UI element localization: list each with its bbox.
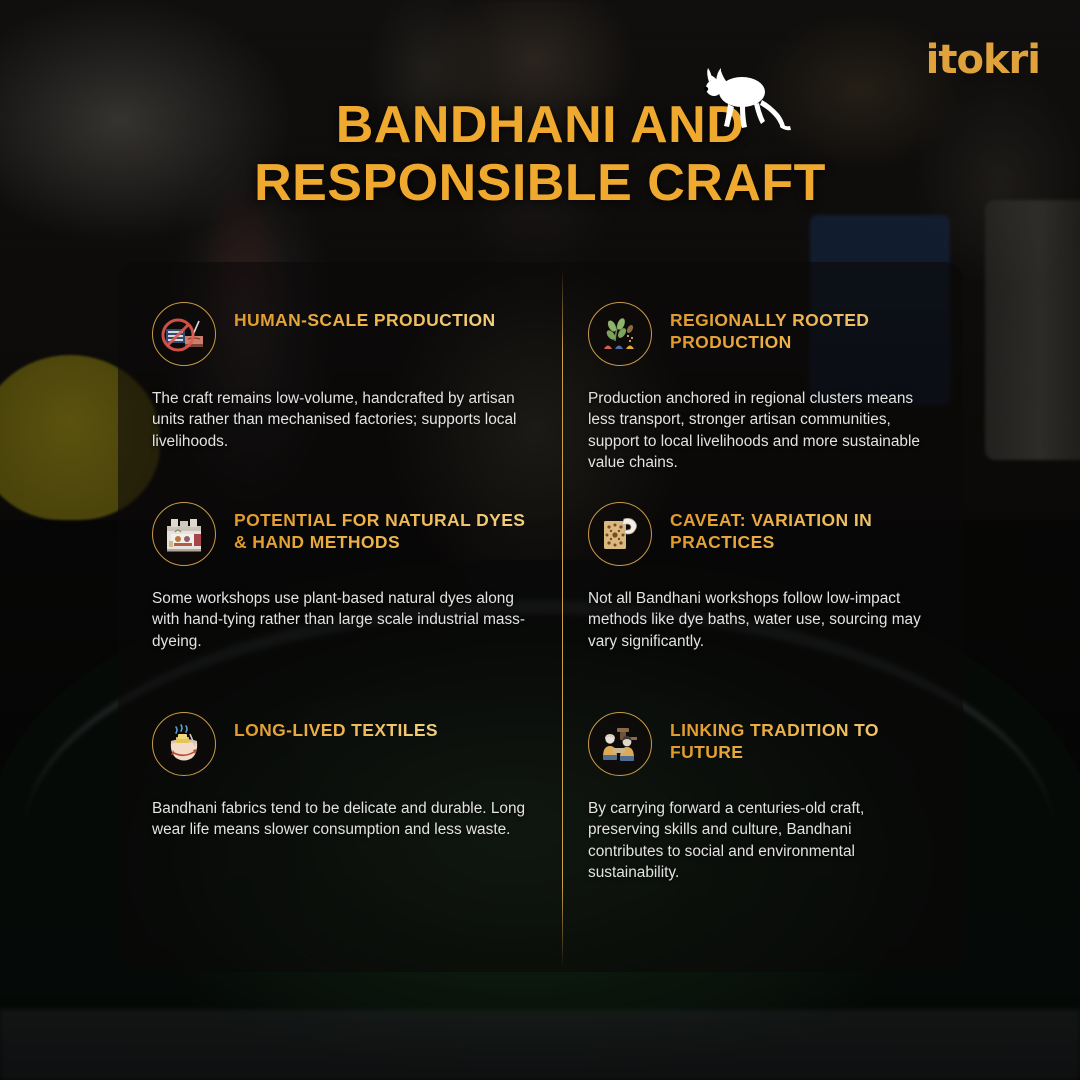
card-title: CAVEAT: VARIATION IN PRACTICES [670,502,929,553]
two-artisans-icon [588,712,652,776]
card-header: LINKING TRADITION TO FUTURE [588,712,929,776]
no-factory-icon [152,302,216,366]
card-header: POTENTIAL FOR NATURAL DYES & HAND METHOD… [152,502,528,566]
antelope-mark-icon [690,58,800,143]
plant-and-dye-powders-icon [588,302,652,366]
card-title: LONG-LIVED TEXTILES [234,712,438,741]
card-human-scale-production: HUMAN-SCALE PRODUCTION The craft remains… [118,262,562,462]
card-title: HUMAN-SCALE PRODUCTION [234,302,496,331]
card-header: LONG-LIVED TEXTILES [152,712,528,776]
page-title: BANDHANI AND RESPONSIBLE CRAFT [0,96,1080,212]
card-linking-tradition-to-future: LINKING TRADITION TO FUTURE By carrying … [562,672,963,972]
card-header: HUMAN-SCALE PRODUCTION [152,302,528,366]
card-body: The craft remains low-volume, handcrafte… [152,388,528,452]
hand-holding-bandhani-fabric-icon [588,502,652,566]
cards-grid: HUMAN-SCALE PRODUCTION The craft remains… [118,262,963,972]
card-potential-natural-dyes: POTENTIAL FOR NATURAL DYES & HAND METHOD… [118,462,562,672]
card-header: REGIONALLY ROOTED PRODUCTION [588,302,929,366]
card-regionally-rooted-production: REGIONALLY ROOTED PRODUCTION Production … [562,262,963,462]
card-long-lived-textiles: LONG-LIVED TEXTILES Bandhani fabrics ten… [118,672,562,972]
card-caveat-variation: CAVEAT: VARIATION IN PRACTICES Not all B… [562,462,963,672]
card-title: LINKING TRADITION TO FUTURE [670,712,929,763]
card-title: POTENTIAL FOR NATURAL DYES & HAND METHOD… [234,502,528,553]
steaming-dye-pot-icon [152,712,216,776]
card-header: CAVEAT: VARIATION IN PRACTICES [588,502,929,566]
artisan-workshop-icon [152,502,216,566]
card-body: Some workshops use plant-based natural d… [152,588,528,652]
card-body: Not all Bandhani workshops follow low-im… [588,588,929,652]
infographic-canvas: itokri BANDHANI AND RESPONSIBLE CRAFT [0,0,1080,1080]
card-title: REGIONALLY ROOTED PRODUCTION [670,302,929,353]
card-body: By carrying forward a centuries-old craf… [588,798,929,883]
itokri-logo[interactable]: itokri [926,40,1040,80]
title-block: BANDHANI AND RESPONSIBLE CRAFT [0,96,1080,212]
card-body: Production anchored in regional clusters… [588,388,929,473]
card-body: Bandhani fabrics tend to be delicate and… [152,798,528,841]
